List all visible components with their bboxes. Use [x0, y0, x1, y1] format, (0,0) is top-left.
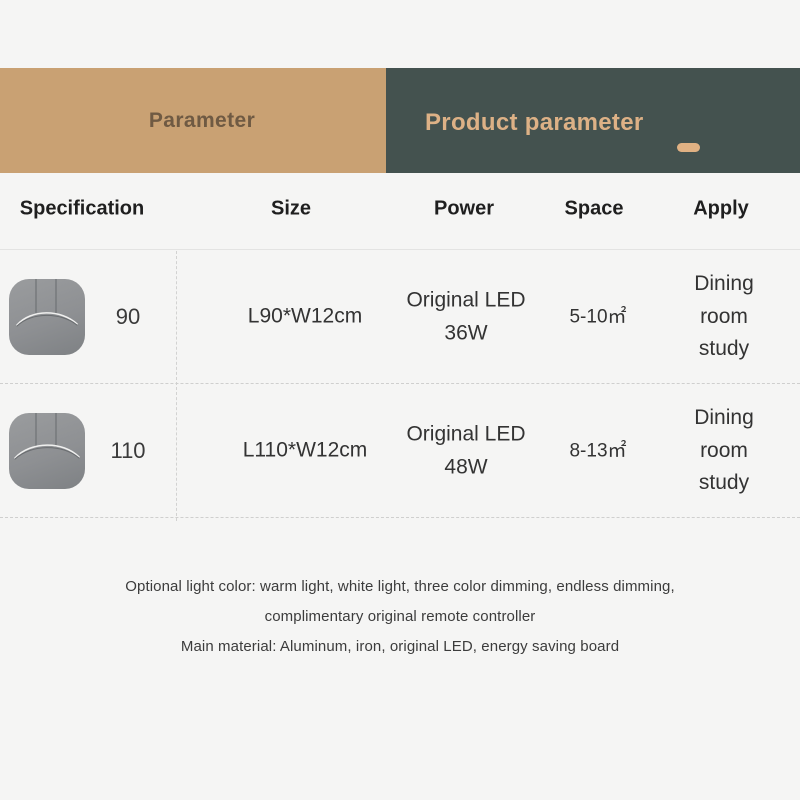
- cell-power: Original LED 48W: [406, 418, 525, 483]
- cell-apply: Dining room study: [686, 268, 762, 366]
- note-line-optional-light-color: Optional light color: warm light, white …: [0, 572, 800, 602]
- product-notes: Optional light color: warm light, white …: [0, 572, 800, 662]
- banner-parameter-label: Parameter: [149, 109, 255, 133]
- note-line-remote-controller: complimentary original remote controller: [0, 602, 800, 632]
- column-header-space: Space: [565, 198, 624, 221]
- row-divider: [0, 517, 800, 518]
- cell-power: Original LED 36W: [406, 284, 525, 349]
- banner-product-parameter-title: Product parameter: [425, 109, 644, 137]
- cell-specification: 90: [116, 300, 140, 334]
- table-row: 90 L90*W12cm Original LED 36W 5-10㎡ Dini…: [0, 250, 800, 384]
- table-header-row: Specification Size Power Space Apply: [0, 173, 800, 250]
- column-header-power: Power: [434, 198, 494, 221]
- column-header-size: Size: [271, 198, 311, 221]
- cell-space: 8-13㎡: [569, 436, 626, 465]
- product-parameter-page: Parameter Product parameter Specificatio…: [0, 0, 800, 800]
- cell-apply: Dining room study: [686, 402, 762, 500]
- pendant-lamp-thumbnail-icon: [9, 279, 85, 355]
- table-row: 110 L110*W12cm Original LED 48W 8-13㎡ Di…: [0, 384, 800, 518]
- specification-table: Specification Size Power Space Apply 90 …: [0, 173, 800, 518]
- column-header-apply: Apply: [693, 198, 749, 221]
- banner-right-panel: Product parameter: [386, 68, 800, 173]
- cell-specification: 110: [110, 434, 145, 468]
- banner-accent-pill-icon: [677, 143, 700, 152]
- cell-size: L90*W12cm: [248, 301, 362, 334]
- banner-left-panel: Parameter: [0, 68, 386, 173]
- cell-size: L110*W12cm: [243, 435, 368, 468]
- cell-space: 5-10㎡: [569, 302, 626, 331]
- column-header-specification: Specification: [20, 198, 144, 221]
- section-banner: Parameter Product parameter: [0, 68, 800, 173]
- note-line-main-material: Main material: Aluminum, iron, original …: [0, 632, 800, 662]
- pendant-lamp-thumbnail-icon: [9, 413, 85, 489]
